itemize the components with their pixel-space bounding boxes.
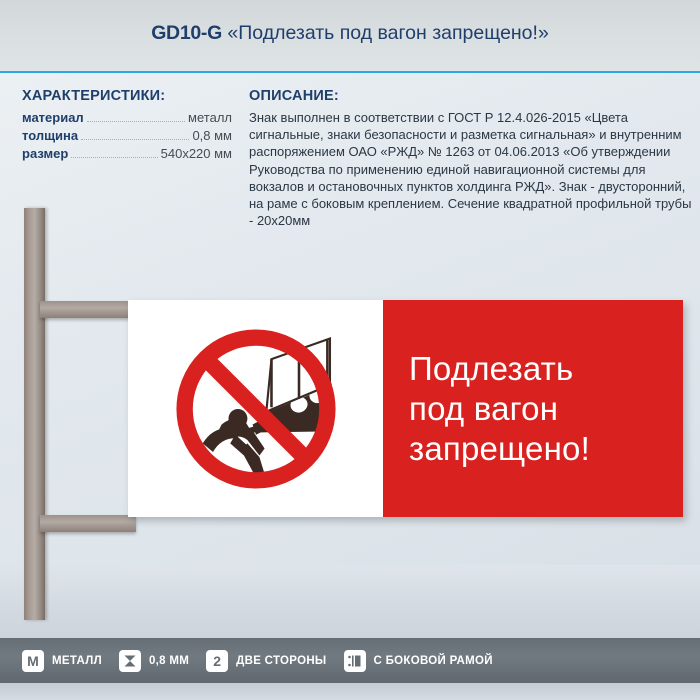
product-illustration: Подлезать под вагон запрещено! [0, 170, 700, 640]
spec-key: толщина [22, 128, 78, 143]
side-frame-icon [344, 650, 366, 672]
footer-label-sides: ДВЕ СТОРОНЫ [236, 655, 326, 667]
sign-text: Подлезать под вагон запрещено! [383, 349, 590, 469]
spec-value: 540х220 мм [161, 146, 232, 161]
spec-row-material: материал металл [22, 110, 232, 125]
page-title: GD10-G «Подлезать под вагон запрещено!» [0, 22, 700, 45]
spec-value: металл [188, 110, 232, 125]
product-name: «Подлезать под вагон запрещено!» [227, 22, 548, 44]
vertical-mounting-post [24, 208, 45, 620]
spec-key: размер [22, 146, 68, 161]
spec-dot-leader [87, 121, 185, 122]
characteristics-block: ХАРАКТЕРИСТИКИ: материал металл толщина … [22, 88, 232, 164]
thickness-icon [119, 650, 141, 672]
footer-item-sides: 2 ДВЕ СТОРОНЫ [206, 650, 326, 672]
product-card-page: GD10-G «Подлезать под вагон запрещено!» … [0, 0, 700, 700]
footer-label-thickness: 0,8 ММ [149, 655, 189, 667]
spec-row-size: размер 540х220 мм [22, 146, 232, 161]
footer-label-frame: С БОКОВОЙ РАМОЙ [374, 655, 493, 667]
footer-bottom-strip [0, 683, 700, 700]
page-header: GD10-G «Подлезать под вагон запрещено!» [0, 0, 700, 72]
spec-row-thickness: толщина 0,8 мм [22, 128, 232, 143]
floor-shadow [0, 565, 700, 640]
sign-text-panel: Подлезать под вагон запрещено! [383, 300, 683, 517]
sign-pictogram-panel [128, 300, 383, 517]
characteristics-title: ХАРАКТЕРИСТИКИ: [22, 88, 232, 104]
spec-dot-leader [71, 157, 157, 158]
footer-item-thickness: 0,8 ММ [119, 650, 189, 672]
no-crawling-under-railcar-pictogram [170, 323, 342, 495]
footer-item-material: M МЕТАЛЛ [22, 650, 102, 672]
spec-dot-leader [81, 139, 189, 140]
upper-mounting-arm [40, 301, 136, 318]
product-code: GD10-G [151, 22, 222, 44]
spec-key: материал [22, 110, 84, 125]
footer-attributes-bar: M МЕТАЛЛ 0,8 ММ 2 ДВЕ СТОРОНЫ [0, 638, 700, 683]
metal-icon: M [22, 650, 44, 672]
lower-mounting-arm [40, 515, 136, 532]
footer-label-material: МЕТАЛЛ [52, 655, 102, 667]
two-sides-icon: 2 [206, 650, 228, 672]
footer-item-frame: С БОКОВОЙ РАМОЙ [344, 650, 493, 672]
header-accent-rule [0, 71, 700, 73]
sign-board: Подлезать под вагон запрещено! [128, 300, 683, 517]
spec-value: 0,8 мм [192, 128, 232, 143]
description-title: ОПИСАНИЕ: [249, 88, 693, 104]
